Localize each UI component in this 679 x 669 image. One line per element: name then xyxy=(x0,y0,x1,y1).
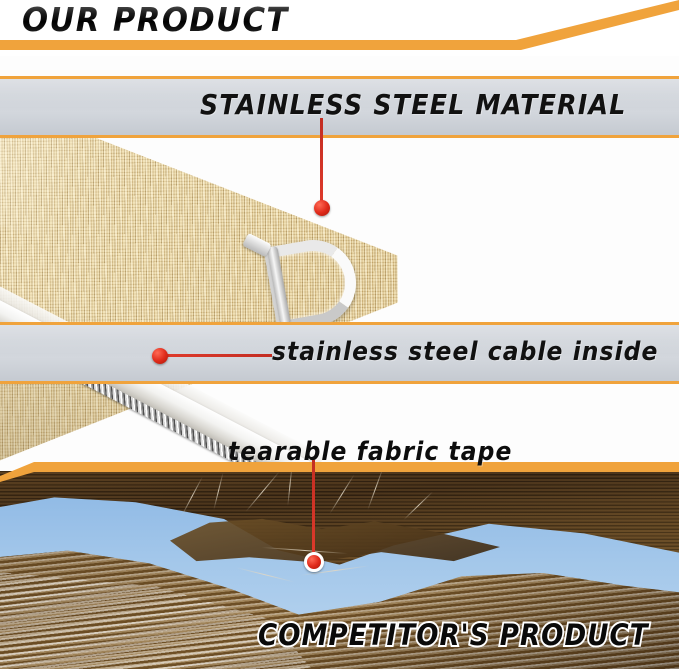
callout-label-tearable-fabric-tape: tearable fabric tape xyxy=(228,437,512,467)
page-title: OUR PRODUCT xyxy=(22,2,289,38)
leader-line-tape xyxy=(312,460,315,560)
leader-line-material xyxy=(320,118,323,210)
product-comparison-infographic: STAINLESS STEEL MATERIAL stainless steel… xyxy=(0,0,679,669)
leader-line-cable xyxy=(160,354,272,357)
callout-dot-tape xyxy=(304,552,324,572)
callout-label-stainless-steel-material: STAINLESS STEEL MATERIAL xyxy=(200,88,627,121)
callout-dot-material xyxy=(314,200,330,216)
header: OUR PRODUCT xyxy=(0,0,679,56)
callout-dot-cable xyxy=(152,348,168,364)
competitor-product-label: COMPETITOR'S PRODUCT xyxy=(258,618,649,652)
d-ring-body xyxy=(270,240,362,332)
callout-label-stainless-steel-cable-inside: stainless steel cable inside xyxy=(272,337,658,367)
